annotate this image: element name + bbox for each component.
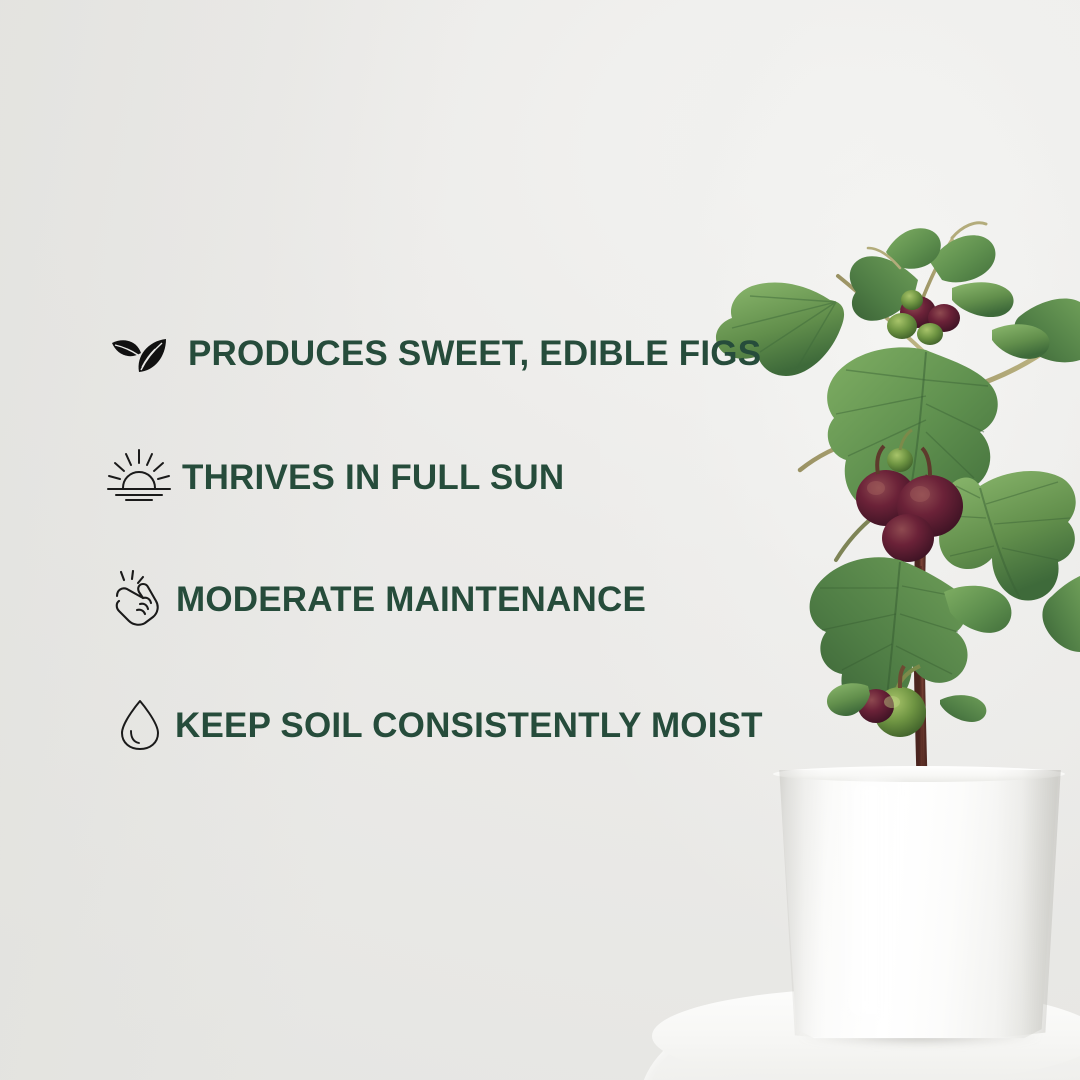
- leaf-icon: [108, 327, 170, 379]
- sunrise-icon: [106, 448, 172, 506]
- pot-highlight: [836, 780, 910, 1016]
- product-feature-card: PRODUCES SWEET, EDIBLE FIGS: [0, 0, 1080, 1080]
- feature-item: KEEP SOIL CONSISTENTLY MOIST: [117, 698, 763, 752]
- feature-item: PRODUCES SWEET, EDIBLE FIGS: [108, 327, 761, 379]
- feature-label: PRODUCES SWEET, EDIBLE FIGS: [188, 336, 761, 371]
- feature-item: MODERATE MAINTENANCE: [110, 570, 646, 628]
- water-drop-icon: [117, 698, 163, 752]
- feature-label: MODERATE MAINTENANCE: [176, 582, 646, 617]
- feature-label: KEEP SOIL CONSISTENTLY MOIST: [175, 708, 763, 743]
- feature-item: THRIVES IN FULL SUN: [106, 448, 564, 506]
- feature-label: THRIVES IN FULL SUN: [182, 460, 564, 495]
- finger-snap-icon: [110, 570, 168, 628]
- feature-list: PRODUCES SWEET, EDIBLE FIGS: [0, 0, 720, 1080]
